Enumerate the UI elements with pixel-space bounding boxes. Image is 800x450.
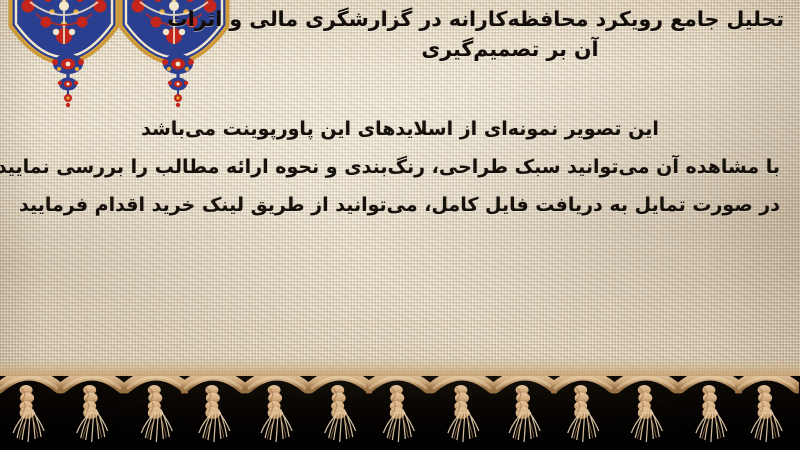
carpet-fringe-tassels — [0, 376, 800, 450]
slide-title: تحلیل جامع رویکرد محافظه‌کارانه در گزارش… — [236, 4, 784, 64]
body-line-3: در صورت تمایل به دریافت فایل کامل، می‌تو… — [20, 186, 780, 224]
fringe-tassel — [430, 376, 494, 450]
fringe-tassel — [678, 376, 742, 450]
fringe-tassel — [614, 376, 678, 450]
fringe-tassel — [0, 376, 61, 450]
slide-title-line-1: تحلیل جامع رویکرد محافظه‌کارانه در گزارش… — [236, 4, 784, 34]
fringe-tassel — [124, 376, 188, 450]
slide-body-text: این تصویر نمونه‌ای از اسلایدهای این پاور… — [20, 110, 780, 224]
fringe-tassel — [60, 376, 124, 450]
slide-title-line-2: آن بر تصمیم‌گیری — [236, 34, 784, 64]
fringe-tassel — [735, 376, 799, 450]
fringe-tassel — [493, 376, 557, 450]
fringe-tassel — [245, 376, 309, 450]
body-line-2: با مشاهده آن می‌توانید سبک طراحی، رنگ‌بن… — [20, 148, 780, 186]
fringe-tassel — [366, 376, 430, 450]
fringe-tassel — [308, 376, 372, 450]
fringe-tassel — [181, 376, 245, 450]
fringe-tassel — [551, 376, 615, 450]
body-line-1: این تصویر نمونه‌ای از اسلایدهای این پاور… — [20, 110, 780, 148]
presentation-slide: تحلیل جامع رویکرد محافظه‌کارانه در گزارش… — [0, 0, 800, 450]
